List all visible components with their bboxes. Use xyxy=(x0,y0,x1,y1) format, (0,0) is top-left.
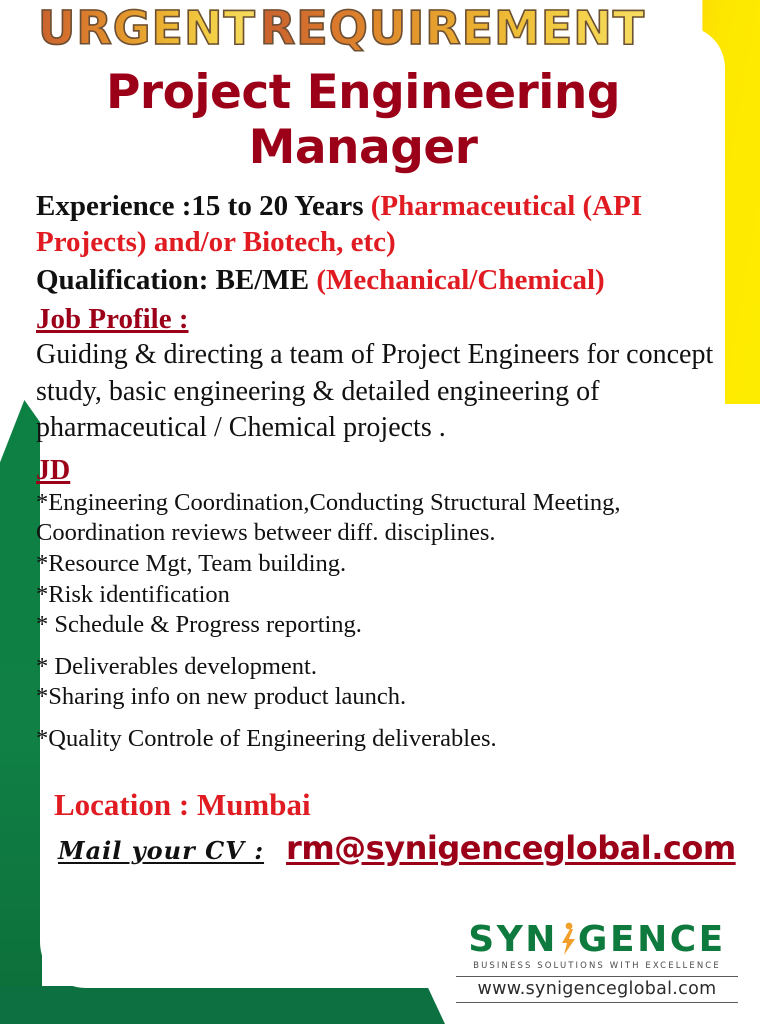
list-item: * Deliverables development. xyxy=(36,652,738,683)
list-item: *Engineering Coordination,Conducting Str… xyxy=(36,488,738,549)
logo-text-gence: GENCE xyxy=(578,922,726,958)
page-title: Project Engineering Manager xyxy=(0,65,760,175)
list-item: *Sharing info on new product launch. xyxy=(36,682,738,713)
qualification-label: Qualification: BE/ME xyxy=(36,264,316,296)
location-line: Location : Mumbai xyxy=(36,787,738,823)
job-profile-heading: Job Profile : xyxy=(36,303,189,336)
list-item: * Schedule & Progress reporting. xyxy=(36,610,738,641)
company-logo: SYN GENCE BUSINESS SOLUTIONS WITH EXCELL… xyxy=(456,922,738,1003)
list-item: *Resource Mgt, Team building. xyxy=(36,549,738,580)
experience-label: Experience :15 to 20 Years xyxy=(36,190,371,222)
urgent-line-1: URGENT xyxy=(38,6,256,51)
mail-cv-label: Mail your CV : xyxy=(36,836,264,865)
email-address[interactable]: rm@synigenceglobal.com xyxy=(268,829,736,867)
corner-decoration-bottom-green xyxy=(0,986,445,1024)
poster-body: Experience :15 to 20 Years (Pharmaceutic… xyxy=(0,175,760,867)
urgent-banner: URGENT REQUIREMENT xyxy=(0,0,760,51)
jd-heading: JD xyxy=(36,455,70,487)
lightning-bolt-icon xyxy=(558,921,578,957)
job-profile-text: Guiding & directing a team of Project En… xyxy=(36,337,738,446)
urgent-line-2: REQUIREMENT xyxy=(260,6,645,51)
experience-row: Experience :15 to 20 Years (Pharmaceutic… xyxy=(36,189,738,261)
logo-tagline: BUSINESS SOLUTIONS WITH EXCELLENCE xyxy=(456,961,738,971)
logo-website[interactable]: www.synigenceglobal.com xyxy=(456,979,738,999)
qualification-row: Qualification: BE/ME (Mechanical/Chemica… xyxy=(36,263,738,298)
list-item: *Risk identification xyxy=(36,580,738,611)
list-item: *Quality Controle of Engineering deliver… xyxy=(36,724,738,755)
qualification-detail: (Mechanical/Chemical) xyxy=(316,264,604,296)
logo-text-syn: SYN xyxy=(468,922,558,958)
jd-list: *Engineering Coordination,Conducting Str… xyxy=(36,488,738,755)
logo-wordmark: SYN GENCE xyxy=(456,922,738,958)
poster-content: URGENT REQUIREMENT Project Engineering M… xyxy=(0,0,760,867)
logo-website-wrap: www.synigenceglobal.com xyxy=(456,976,738,1003)
